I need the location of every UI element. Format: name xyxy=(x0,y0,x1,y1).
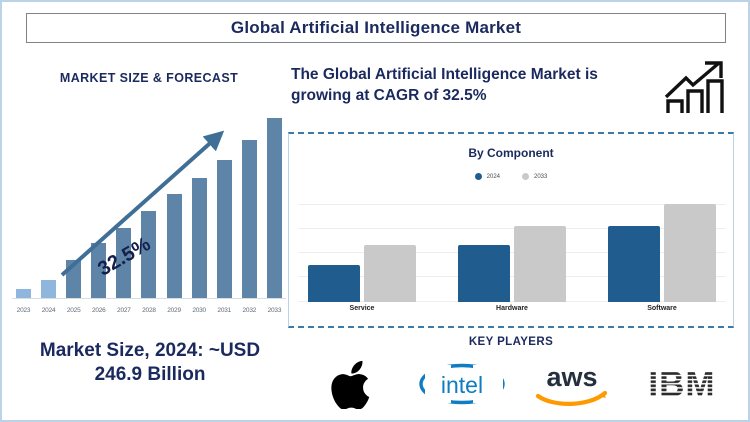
forecast-bar-2025 xyxy=(64,112,83,298)
bar xyxy=(167,194,182,298)
category-label-service: Service xyxy=(298,305,426,312)
bar-software-2033 xyxy=(664,204,716,302)
market-size-forecast-chart: 2023202420252026202720282029203020312032… xyxy=(12,112,286,312)
bar xyxy=(16,289,31,298)
year-label-2030: 2030 xyxy=(190,307,209,314)
intel-logo-cell: intel xyxy=(407,355,517,413)
legend-label: 2033 xyxy=(534,174,547,180)
key-players-title: KEY PLAYERS xyxy=(288,336,734,348)
legend-swatch-icon xyxy=(475,173,482,180)
growth-arrow-bar-chart-icon xyxy=(662,57,742,119)
aws-logo-cell: aws xyxy=(517,355,627,413)
legend-item-2024[interactable]: 2024 xyxy=(475,173,500,180)
bar-software-2024 xyxy=(608,226,660,302)
bar-hardware-2024 xyxy=(458,245,510,302)
bar xyxy=(192,178,207,298)
legend-label: 2024 xyxy=(487,174,500,180)
forecast-bar-2024 xyxy=(39,112,58,298)
forecast-bars xyxy=(12,112,286,298)
legend-swatch-icon xyxy=(522,173,529,180)
apple-logo xyxy=(331,359,373,409)
bar-service-2024 xyxy=(308,265,360,302)
year-label-2033: 2033 xyxy=(265,307,284,314)
by-component-bar-groups xyxy=(298,190,726,302)
aws-logo: aws xyxy=(529,360,615,408)
year-label-2024: 2024 xyxy=(39,307,58,314)
page-title-box: Global Artificial Intelligence Market xyxy=(26,13,726,43)
year-label-2025: 2025 xyxy=(64,307,83,314)
year-label-2027: 2027 xyxy=(114,307,133,314)
year-label-2028: 2028 xyxy=(139,307,158,314)
forecast-bar-2028 xyxy=(139,112,158,298)
forecast-axis-line xyxy=(12,298,286,299)
by-component-title: By Component xyxy=(288,146,734,160)
by-component-legend: 20242033 xyxy=(288,173,734,180)
page-title: Global Artificial Intelligence Market xyxy=(231,18,521,38)
apple-logo-cell xyxy=(297,355,407,413)
by-component-category-labels: ServiceHardwareSoftware xyxy=(298,305,726,312)
category-label-hardware: Hardware xyxy=(448,305,576,312)
year-label-2026: 2026 xyxy=(89,307,108,314)
key-players-logos: intel aws IBM xyxy=(297,354,737,414)
forecast-bar-2023 xyxy=(14,112,33,298)
bar-group-software xyxy=(598,190,726,302)
forecast-bar-2029 xyxy=(165,112,184,298)
svg-text:aws: aws xyxy=(546,362,597,392)
market-size-forecast-heading: MARKET SIZE & FORECAST xyxy=(10,71,288,85)
legend-item-2033[interactable]: 2033 xyxy=(522,173,547,180)
ibm-logo-cell: IBM xyxy=(627,355,737,413)
forecast-bar-2032 xyxy=(240,112,259,298)
year-label-2031: 2031 xyxy=(215,307,234,314)
year-label-2032: 2032 xyxy=(240,307,259,314)
forecast-bar-2031 xyxy=(215,112,234,298)
year-label-2023: 2023 xyxy=(14,307,33,314)
bar xyxy=(66,260,81,298)
bar xyxy=(217,160,232,298)
cagr-headline: The Global Artificial Intelligence Marke… xyxy=(291,64,646,107)
forecast-bar-2033 xyxy=(265,112,284,298)
bar-service-2033 xyxy=(364,245,416,302)
bar xyxy=(242,140,257,298)
intel-logo: intel xyxy=(416,361,508,407)
bar xyxy=(267,118,282,298)
bar-hardware-2033 xyxy=(514,226,566,302)
forecast-bar-2030 xyxy=(190,112,209,298)
market-size-value: Market Size, 2024: ~USD 246.9 Billion xyxy=(14,339,286,388)
category-label-software: Software xyxy=(598,305,726,312)
svg-text:IBM: IBM xyxy=(648,365,715,404)
ibm-logo: IBM xyxy=(636,364,728,404)
market-size-forecast-panel: MARKET SIZE & FORECAST 20232024202520262… xyxy=(10,57,288,417)
bar-group-hardware xyxy=(448,190,576,302)
by-component-plot xyxy=(298,190,726,302)
bar-group-service xyxy=(298,190,426,302)
svg-text:intel: intel xyxy=(441,372,483,398)
infographic-root: Global Artificial Intelligence Market MA… xyxy=(0,0,750,422)
forecast-year-labels: 2023202420252026202720282029203020312032… xyxy=(12,307,286,314)
bar xyxy=(41,280,56,298)
year-label-2029: 2029 xyxy=(165,307,184,314)
